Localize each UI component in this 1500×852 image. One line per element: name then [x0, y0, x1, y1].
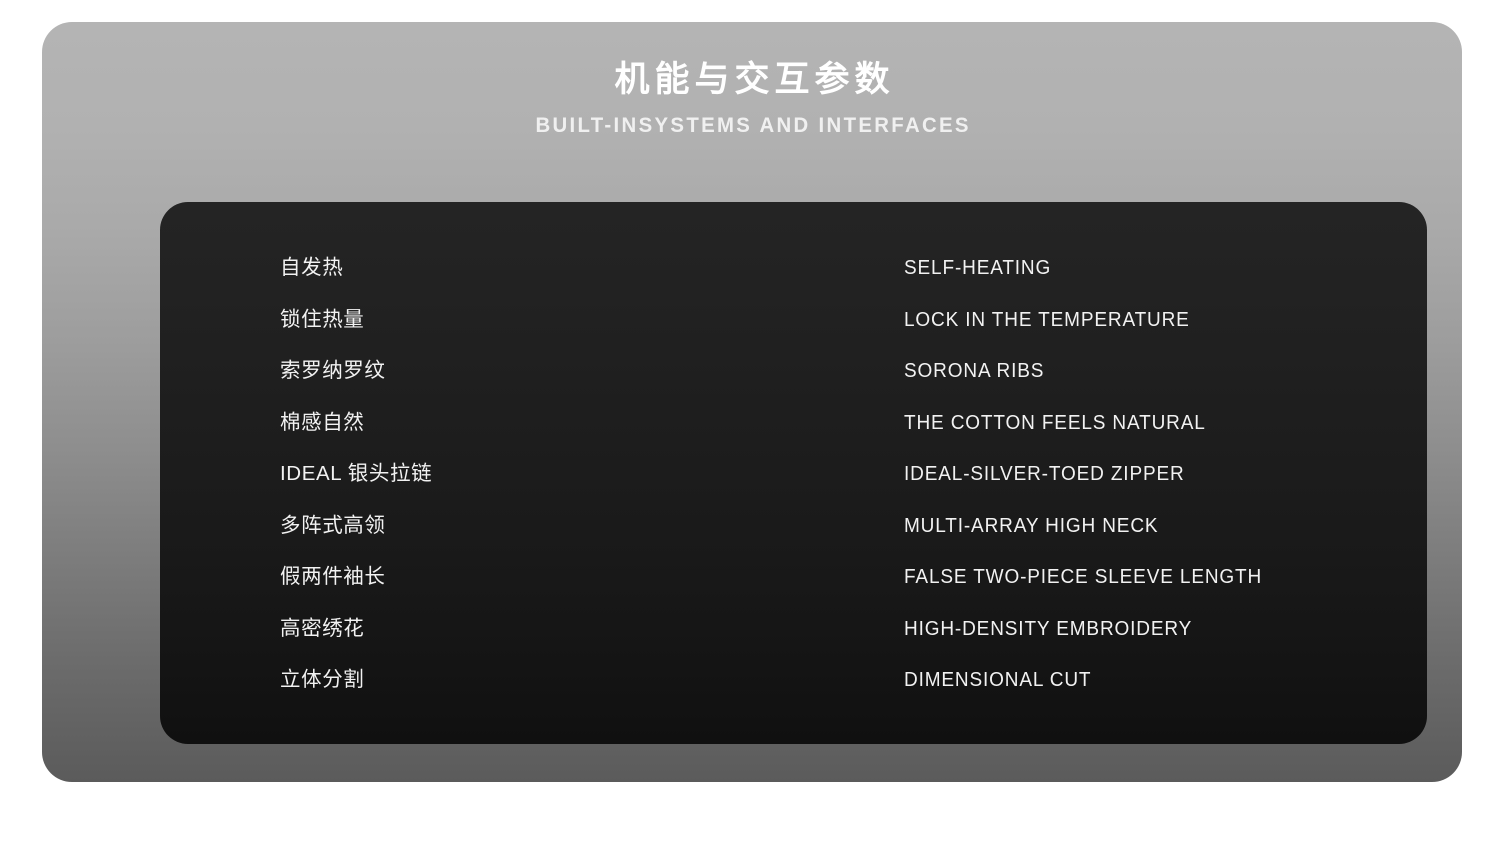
- panel-header: 机能与交互参数 BUILT-INSYSTEMS AND INTERFACES: [42, 22, 1462, 138]
- spec-label-en: SORONA RIBS: [904, 351, 1044, 391]
- spec-table-card: 自发热SELF-HEATING锁住热量LOCK IN THE TEMPERATU…: [160, 202, 1427, 744]
- spec-row: 锁住热量LOCK IN THE TEMPERATURE: [160, 300, 1427, 352]
- spec-label-cn: 索罗纳罗纹: [280, 351, 386, 391]
- page-title-cn: 机能与交互参数: [42, 22, 1462, 102]
- spec-label-en: LOCK IN THE TEMPERATURE: [904, 300, 1190, 340]
- page-subtitle-en: BUILT-INSYSTEMS AND INTERFACES: [63, 102, 1440, 138]
- spec-row: 假两件袖长FALSE TWO-PIECE SLEEVE LENGTH: [160, 557, 1427, 609]
- spec-label-cn: 多阵式高领: [280, 506, 386, 546]
- spec-label-cn: 高密绣花: [280, 609, 364, 649]
- spec-row: 高密绣花HIGH-DENSITY EMBROIDERY: [160, 609, 1427, 661]
- spec-table: 自发热SELF-HEATING锁住热量LOCK IN THE TEMPERATU…: [160, 202, 1427, 712]
- spec-label-en: FALSE TWO-PIECE SLEEVE LENGTH: [904, 557, 1262, 597]
- spec-label-en: DIMENSIONAL CUT: [904, 660, 1091, 700]
- spec-label-cn: 假两件袖长: [280, 557, 386, 597]
- spec-label-cn: 锁住热量: [280, 300, 364, 340]
- spec-label-cn: 自发热: [280, 248, 343, 288]
- slide-canvas: 机能与交互参数 BUILT-INSYSTEMS AND INTERFACES 自…: [0, 0, 1500, 852]
- spec-label-cn: 立体分割: [280, 660, 364, 700]
- spec-row: 索罗纳罗纹SORONA RIBS: [160, 351, 1427, 403]
- spec-label-en: MULTI-ARRAY HIGH NECK: [904, 506, 1158, 546]
- spec-label-cn: 棉感自然: [280, 403, 364, 443]
- spec-row: 自发热SELF-HEATING: [160, 248, 1427, 300]
- spec-label-en: THE COTTON FEELS NATURAL: [904, 403, 1206, 443]
- spec-row: 多阵式高领MULTI-ARRAY HIGH NECK: [160, 506, 1427, 558]
- spec-row: IDEAL 银头拉链IDEAL-SILVER-TOED ZIPPER: [160, 454, 1427, 506]
- spec-row: 立体分割DIMENSIONAL CUT: [160, 660, 1427, 712]
- spec-panel: 机能与交互参数 BUILT-INSYSTEMS AND INTERFACES 自…: [42, 22, 1462, 782]
- spec-label-en: HIGH-DENSITY EMBROIDERY: [904, 609, 1192, 649]
- spec-label-en: IDEAL-SILVER-TOED ZIPPER: [904, 454, 1185, 494]
- spec-label-cn: IDEAL 银头拉链: [280, 454, 432, 494]
- spec-label-en: SELF-HEATING: [904, 248, 1051, 288]
- spec-row: 棉感自然THE COTTON FEELS NATURAL: [160, 403, 1427, 455]
